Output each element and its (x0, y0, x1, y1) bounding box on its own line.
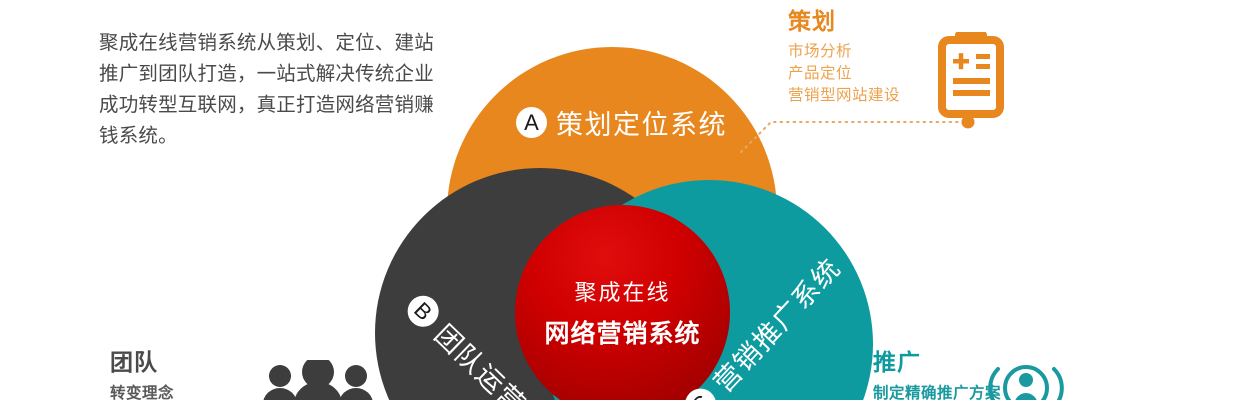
planning-item-2: 产品定位 (788, 63, 900, 85)
team-item-1: 转变理念 (110, 383, 174, 400)
team-block: 团队 转变理念 (110, 343, 174, 400)
circle-planning-label-text: 策划定位系统 (556, 103, 727, 142)
person-target-icon (980, 362, 1072, 400)
planning-title: 策划 (788, 2, 900, 36)
badge-a: A (516, 107, 547, 138)
planning-block: 策划 市场分析 产品定位 营销型网站建设 (788, 0, 900, 107)
infographic-canvas: 聚成在线营销系统从策划、定位、建站推广到团队打造，一站式解决传统企业成功转型互联… (0, 0, 1250, 400)
team-title: 团队 (110, 343, 174, 377)
planning-item-1: 市场分析 (788, 41, 900, 63)
circle-planning-label: A 策划定位系统 (516, 103, 727, 142)
planning-item-3: 营销型网站建设 (788, 85, 900, 107)
people-group-icon (258, 360, 380, 400)
clipboard-icon (938, 32, 1004, 118)
venn-diagram: A 策划定位系统 B 团队运营系统 C 营销推广系统 聚成在线 网络营销系统 (0, 0, 1250, 400)
